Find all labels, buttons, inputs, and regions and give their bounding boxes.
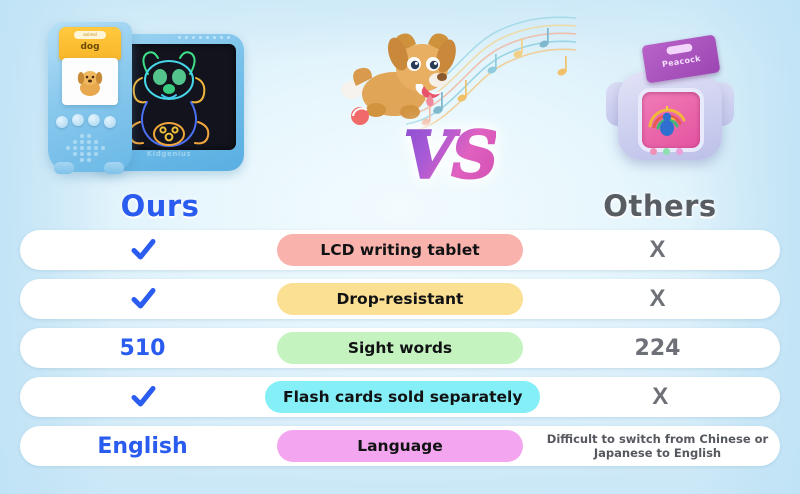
feature-pill: Sight words <box>277 332 523 364</box>
handset-foot-right <box>104 162 124 174</box>
check-icon <box>130 286 156 312</box>
competitor-card-word: Peacock <box>644 51 718 71</box>
check-icon <box>130 237 156 263</box>
toy-buttons <box>650 148 686 156</box>
toy-screen <box>638 88 704 152</box>
cell-others: Difficult to switch from Chinese or Japa… <box>535 432 780 461</box>
cell-others: X <box>540 383 780 411</box>
peacock-icon <box>642 92 692 140</box>
x-icon: X <box>652 383 668 410</box>
cell-feature: Flash cards sold separately <box>265 381 540 413</box>
cell-ours <box>20 384 265 410</box>
cell-feature: Sight words <box>265 332 535 364</box>
table-row: 510Sight words224 <box>20 328 780 368</box>
card-category-pill: animal <box>74 31 106 39</box>
cell-ours <box>20 237 265 263</box>
cell-feature: LCD writing tablet <box>265 234 535 266</box>
cell-others: X <box>535 236 780 264</box>
feature-pill: Flash cards sold separately <box>265 381 540 413</box>
table-row: EnglishLanguageDifficult to switch from … <box>20 426 780 466</box>
x-icon: X <box>649 236 665 263</box>
flash-card-yellow: animal dog <box>59 27 121 60</box>
feature-pill: Drop-resistant <box>277 283 523 315</box>
cell-ours: 510 <box>20 336 265 361</box>
column-header-ours: Ours <box>60 186 260 226</box>
cell-feature: Drop-resistant <box>265 283 535 315</box>
vs-label: VS <box>404 124 496 188</box>
handset-keypad <box>56 114 124 132</box>
column-header-others: Others <box>560 186 760 226</box>
cell-feature: Language <box>265 430 535 462</box>
handset-speaker-grille <box>66 134 112 160</box>
product-image-ours: Kidgenius animal dog <box>48 22 244 172</box>
comparison-infographic: Kidgenius animal dog <box>0 0 800 494</box>
comparison-table: LCD writing tabletXDrop-resistantX510Sig… <box>0 230 800 475</box>
competitor-card-category-pill <box>666 43 693 55</box>
feature-pill: LCD writing tablet <box>277 234 523 266</box>
table-row: Drop-resistantX <box>20 279 780 319</box>
check-icon <box>130 384 156 410</box>
cell-others: X <box>535 285 780 313</box>
cell-others: 224 <box>535 336 780 361</box>
table-row: LCD writing tabletX <box>20 230 780 270</box>
versus-artwork: VS <box>322 14 578 186</box>
x-icon: X <box>649 285 665 312</box>
flash-card-white <box>62 58 118 105</box>
product-image-others: Peacock <box>612 24 728 174</box>
card-word-label: dog <box>59 42 121 52</box>
feature-pill: Language <box>277 430 523 462</box>
tablet-top-dots <box>178 36 234 41</box>
handset-foot-left <box>54 162 74 174</box>
card-category-label: animal <box>74 31 106 39</box>
table-row: Flash cards sold separatelyX <box>20 377 780 417</box>
puppy-photo-icon <box>73 67 107 97</box>
cell-ours <box>20 286 265 312</box>
hero-section: Kidgenius animal dog <box>0 0 800 186</box>
cell-ours: English <box>20 434 265 459</box>
